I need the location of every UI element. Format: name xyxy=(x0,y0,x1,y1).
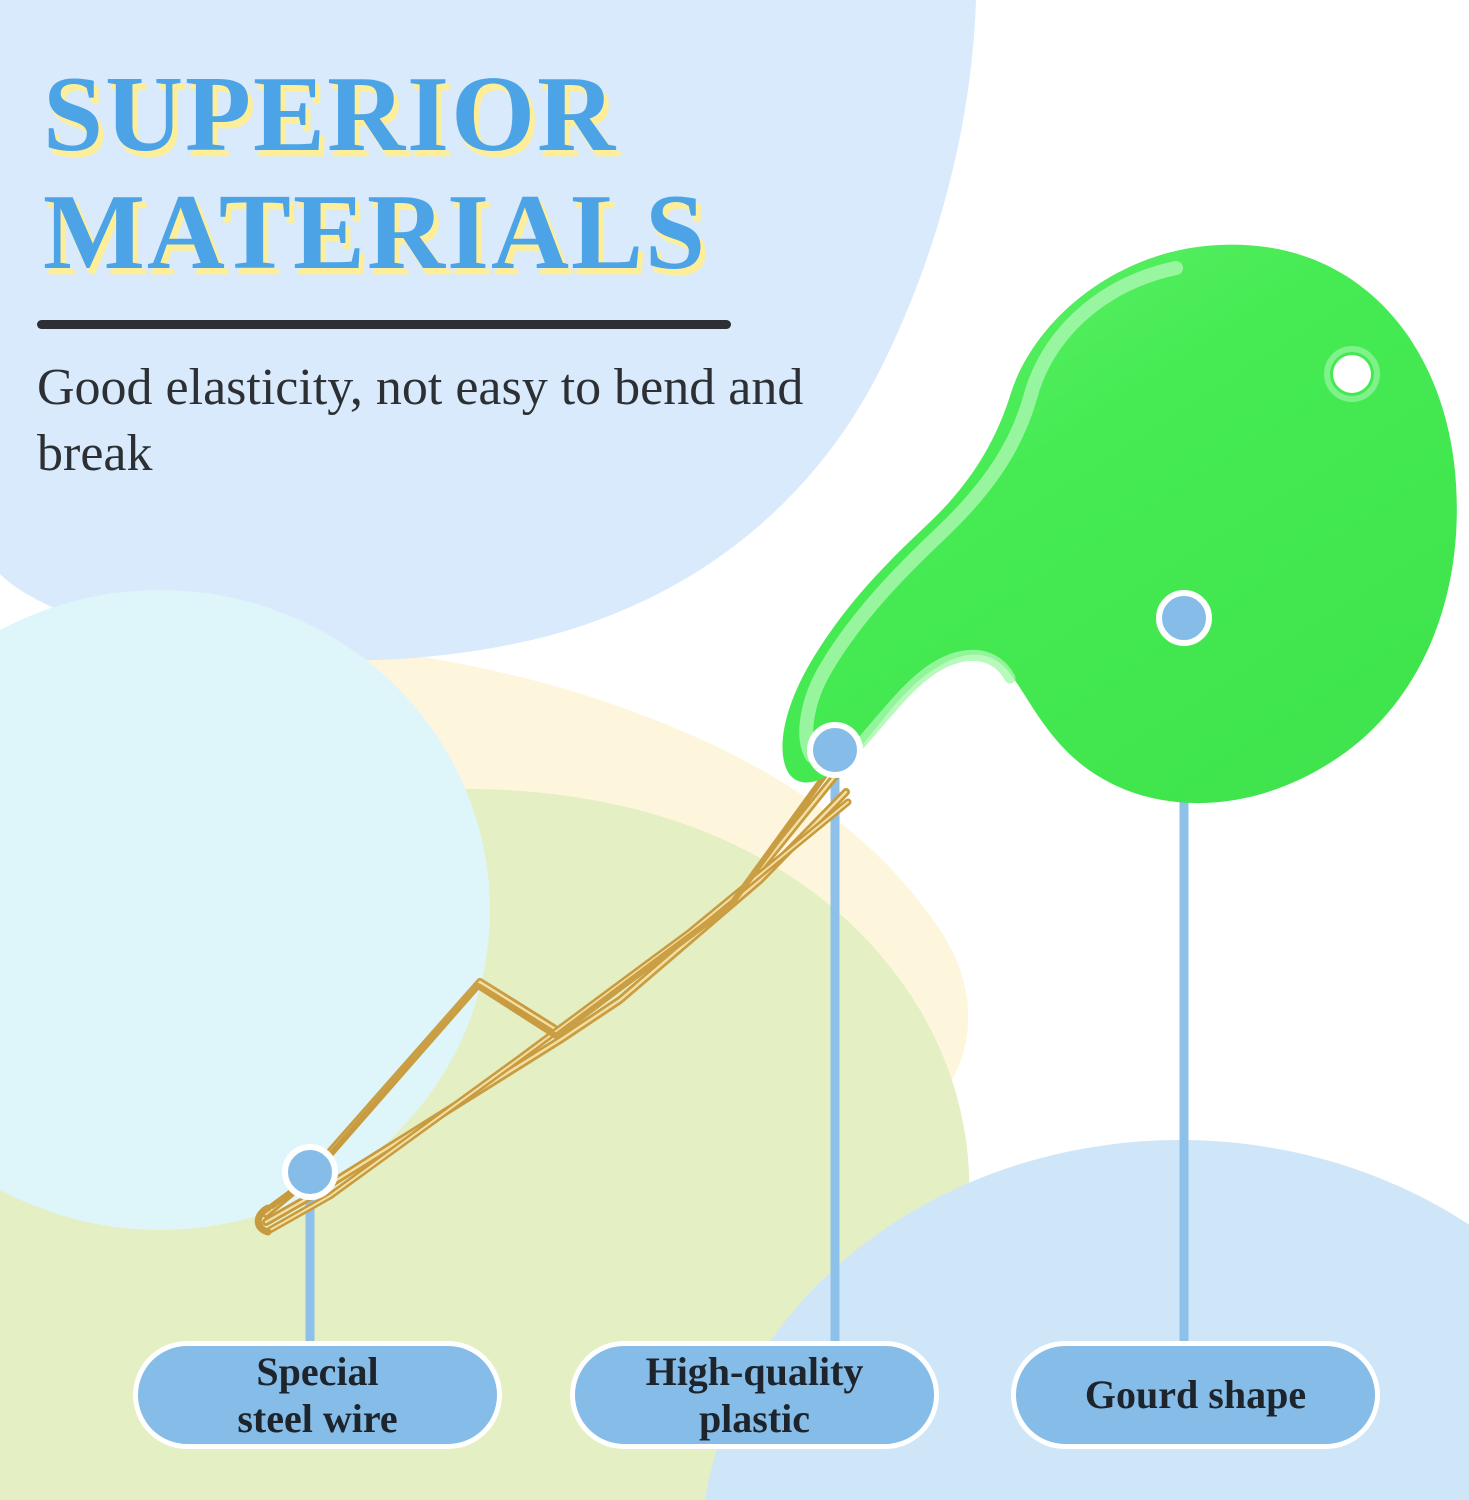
page-subtitle: Good elasticity, not easy to bend and br… xyxy=(37,355,827,488)
wire-strand-lower-highlight xyxy=(266,792,846,1222)
callout-label-line-1: High-quality xyxy=(646,1348,864,1395)
page-title-line-2: MATERIALS xyxy=(43,180,967,286)
callout-pill-high-quality-plastic[interactable]: High-quality plastic xyxy=(570,1341,939,1449)
callout-label-line-1: Special xyxy=(237,1348,397,1395)
callout-pill-gourd-shape[interactable]: Gourd shape xyxy=(1011,1341,1380,1449)
callout-label-line-2: plastic xyxy=(646,1395,864,1442)
callout-label-line-2: steel wire xyxy=(237,1395,397,1442)
product-infographic-poster: SUPERIOR MATERIALS Good elasticity, not … xyxy=(0,0,1469,1500)
page-title-line-1: SUPERIOR xyxy=(43,62,967,168)
wire-strand-upper xyxy=(266,770,840,1214)
hanging-hole xyxy=(1333,355,1371,393)
title-divider-rule xyxy=(37,320,731,329)
wire-loop-upper-edge xyxy=(272,760,836,1206)
callout-dot-special-steel-wire[interactable] xyxy=(285,1147,335,1197)
steel-wire-threader xyxy=(258,760,848,1232)
heading-block: SUPERIOR MATERIALS Good elasticity, not … xyxy=(37,62,967,488)
wire-strand-upper-highlight xyxy=(266,770,840,1214)
callout-dot-high-quality-plastic[interactable] xyxy=(810,725,860,775)
wire-strand-lower xyxy=(266,792,846,1222)
callout-dot-gourd-shape[interactable] xyxy=(1159,593,1209,643)
callout-label-line-1: Gourd shape xyxy=(1085,1371,1306,1418)
callout-pill-special-steel-wire[interactable]: Special steel wire xyxy=(133,1341,502,1449)
